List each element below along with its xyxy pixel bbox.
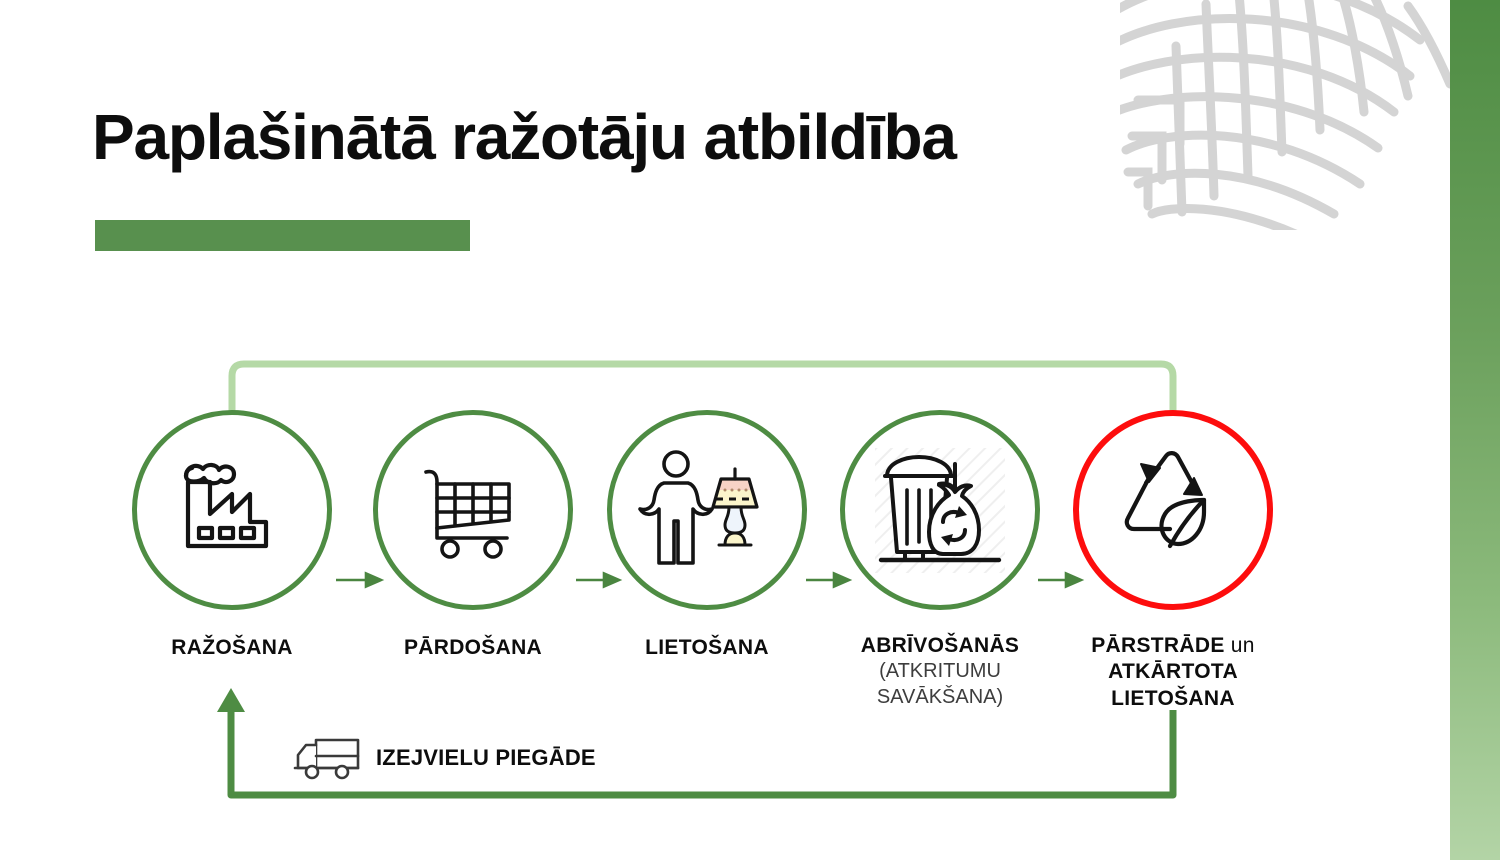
- erp-lifecycle-diagram: RAŽOŠANA PĀRDOŠANA: [0, 330, 1450, 830]
- title-accent-bar: [95, 220, 470, 251]
- person-with-lamp-icon: [607, 410, 807, 610]
- slide-canvas: Paplašinātā ražotāju atbildība: [0, 0, 1500, 860]
- flow-step-razosana-label: RAŽOŠANA: [92, 635, 372, 661]
- flow-step-parstrade-label: PĀRSTRĀDE un ATKĀRTOTA LIETOŠANA: [1033, 633, 1313, 712]
- page-title: Paplašinātā ražotāju atbildība: [92, 104, 956, 171]
- shopping-cart-icon: [373, 410, 573, 610]
- supply-delivery-row: IZEJVIELU PIEGĀDE: [292, 735, 596, 781]
- supply-label: IZEJVIELU PIEGĀDE: [376, 745, 596, 771]
- delivery-truck-icon: [292, 735, 362, 781]
- factory-icon: [132, 410, 332, 610]
- trash-bin-with-bag-icon: [840, 410, 1040, 610]
- recycle-leaf-icon: [1073, 410, 1273, 610]
- fingerprint-pattern: [1120, 0, 1460, 230]
- parstrade-line1-bold: PĀRSTRĀDE: [1091, 634, 1224, 657]
- parstrade-line1-light: un: [1231, 634, 1255, 657]
- parstrade-line2: ATKĀRTOTA: [1108, 660, 1238, 683]
- gradient-side-bar: [1450, 0, 1500, 860]
- parstrade-line3: LIETOŠANA: [1111, 687, 1235, 710]
